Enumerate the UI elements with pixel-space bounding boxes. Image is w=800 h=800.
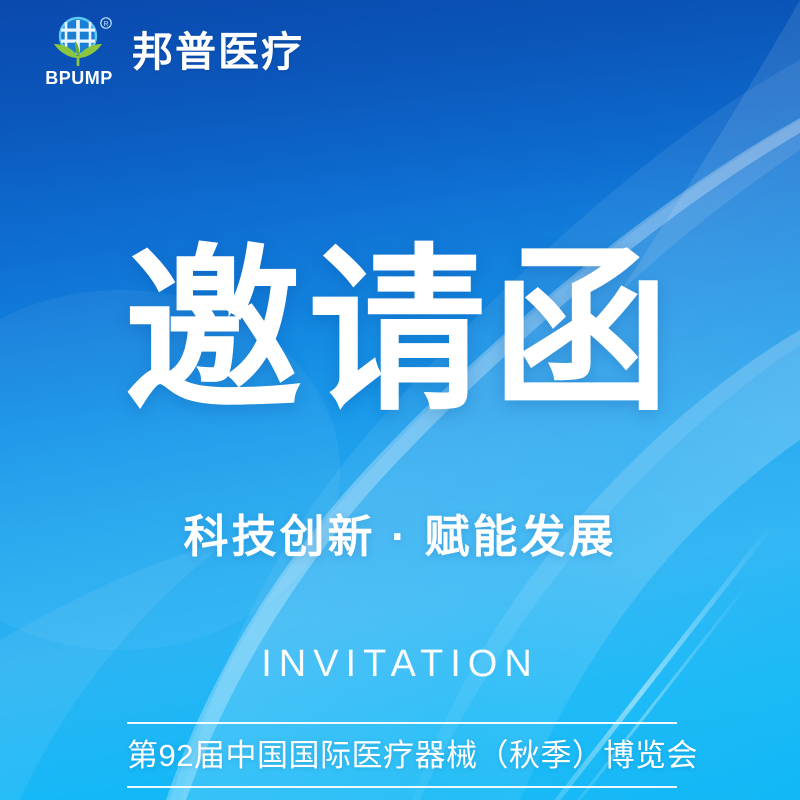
invitation-poster: R BPUMP 邦普医疗 邀请函 科技创新 · 赋能发展 INVITATION … [0,0,800,800]
logo-wordmark: BPUMP [45,68,113,88]
event-name: 第92届中国国际医疗器械（秋季）博览会 [127,724,677,786]
divider-line-bottom [127,786,677,788]
brand-header: R BPUMP 邦普医疗 [44,14,304,90]
page-title: 邀请函 [0,243,800,421]
svg-text:R: R [103,21,108,28]
bpump-flower-logo-icon: R BPUMP [44,14,116,90]
brand-name: 邦普医疗 [132,32,304,73]
slogan-text: 科技创新 · 赋能发展 [0,512,800,562]
english-subtitle: INVITATION [0,645,800,683]
footer-block: 第92届中国国际医疗器械（秋季）博览会 [127,722,677,788]
